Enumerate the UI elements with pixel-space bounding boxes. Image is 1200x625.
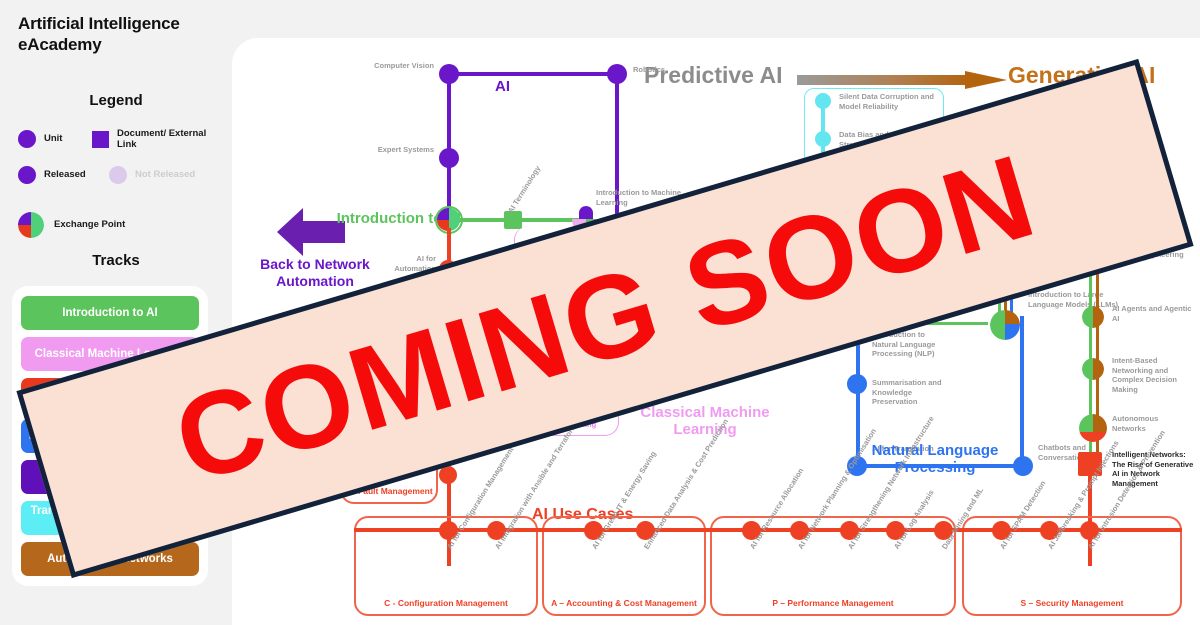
label-silent-data-corruption: Silent Data Corruption and Model Reliabi… — [839, 92, 939, 111]
legend-label-unit: Unit — [44, 133, 62, 144]
use-case-caption-performance: P – Performance Management — [712, 598, 954, 608]
legend-heading: Legend — [0, 92, 232, 109]
node-robotics[interactable] — [607, 64, 627, 84]
label-robotics: Robotics — [633, 65, 665, 75]
node-summarisation[interactable] — [847, 374, 867, 394]
legend-label-document: Document/ External Link — [117, 128, 222, 150]
label-intent-based-networking: Intent-Based Networking and Complex Deci… — [1112, 356, 1198, 394]
node-ai-incident-resolution-2[interactable] — [439, 466, 457, 484]
label-ai-terminology: AI Terminology — [506, 164, 543, 215]
not-released-circle-icon — [109, 166, 127, 184]
legend-item-unit: Unit — [18, 130, 62, 148]
node-ai-agents[interactable] — [1082, 306, 1104, 328]
label-intro-llm: Introduction to Large Language Models (L… — [1028, 290, 1124, 309]
document-square-icon — [92, 131, 109, 148]
spectrum-arrow-icon — [797, 71, 1007, 89]
label-autonomous-networks: Autonomous Networks — [1112, 414, 1192, 433]
node-silent-data-corruption[interactable] — [815, 93, 831, 109]
label-summarisation: Summarisation and Knowledge Preservation — [872, 378, 950, 407]
released-circle-icon — [18, 166, 36, 184]
edge-ai-left — [447, 72, 451, 220]
tracks-heading: Tracks — [0, 252, 232, 269]
legend-item-exchange-point: Exchange Point — [18, 212, 125, 238]
page-root: Artificial Intelligence eAcademy Legend … — [0, 0, 1200, 625]
back-to-network-automation-link[interactable]: Back to Network Automation — [260, 256, 370, 289]
track-title-classical-machine-learning: Classical Machine Learning — [630, 404, 780, 439]
legend-item-not-released: Not Released — [109, 166, 195, 184]
track-title-ai: AI — [495, 78, 510, 95]
node-expert-systems[interactable] — [439, 148, 459, 168]
label-computer-vision: Computer Vision — [372, 61, 434, 71]
node-intro-llm-exchange-point[interactable] — [990, 310, 1020, 340]
unit-circle-icon — [18, 130, 36, 148]
node-autonomous-networks-exchange-point[interactable] — [1079, 414, 1107, 442]
use-case-caption-security: S – Security Management — [964, 598, 1180, 608]
legend-label-released: Released — [44, 169, 86, 180]
node-data-bias[interactable] — [815, 131, 831, 147]
node-computer-vision[interactable] — [439, 64, 459, 84]
legend-item-document: Document/ External Link — [92, 128, 222, 150]
page-title: Artificial Intelligence eAcademy — [18, 14, 238, 55]
exchange-point-pie-icon — [18, 212, 44, 238]
legend-label-exchange-point: Exchange Point — [54, 219, 125, 230]
back-arrow-icon[interactable] — [277, 206, 345, 258]
track-chip-introduction-to-ai[interactable]: Introduction to AI — [21, 296, 199, 330]
node-intent-based-networking[interactable] — [1082, 358, 1104, 380]
label-expert-systems: Expert Systems — [372, 145, 434, 155]
edge-ai-top — [447, 72, 619, 76]
label-ai-agents: AI Agents and Agentic AI — [1112, 304, 1192, 323]
use-case-caption-configuration: C - Configuration Management — [356, 598, 536, 608]
use-case-caption-accounting: A – Accounting & Cost Management — [544, 598, 704, 608]
legend-label-not-released: Not Released — [135, 169, 195, 180]
legend-item-released: Released — [18, 166, 86, 184]
